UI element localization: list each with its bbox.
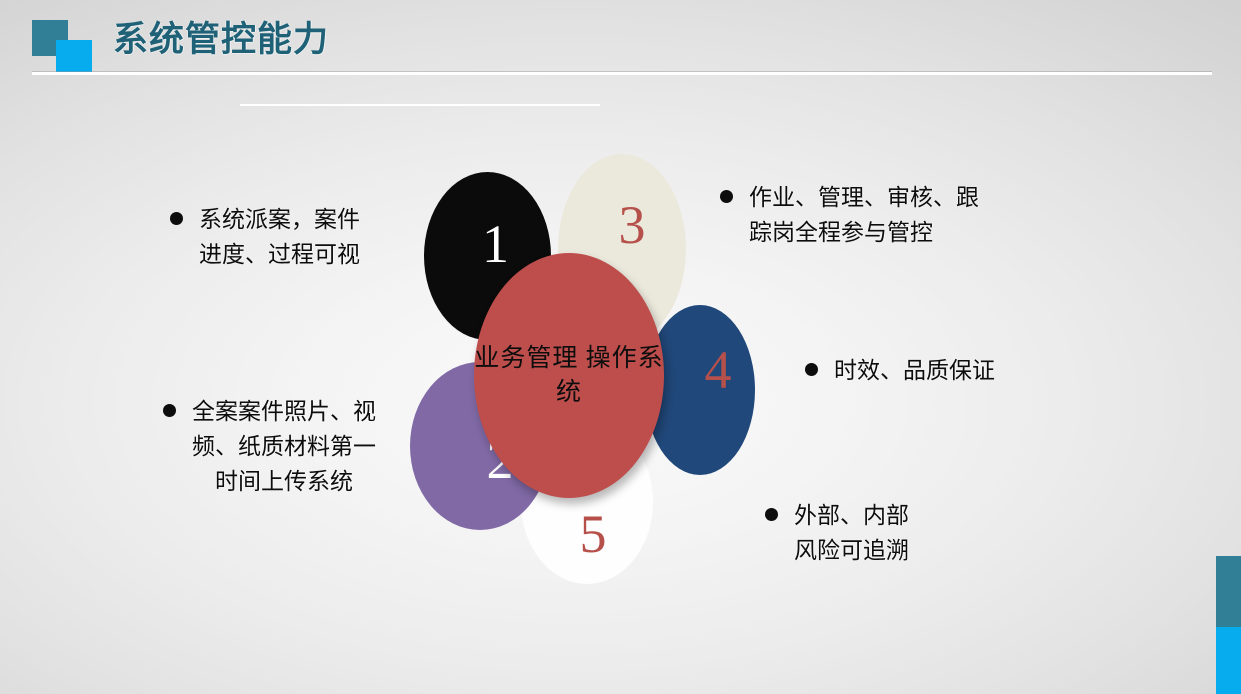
callout-1: 系统派案，案件 进度、过程可视 xyxy=(170,202,422,272)
callout-4-text: 时效、品质保证 xyxy=(834,353,995,388)
center-hub-ellipse[interactable]: 业务管理 操作系统 xyxy=(474,253,664,498)
edge-accent-blue xyxy=(1216,627,1241,694)
callout-2-text: 全案案件照片、视 频、纸质材料第一 时间上传系统 xyxy=(192,394,376,499)
page-title: 系统管控能力 xyxy=(113,22,329,57)
petal-number-3: 3 xyxy=(619,198,646,252)
header-divider-primary xyxy=(32,72,1212,75)
bullet-dot-icon xyxy=(170,212,183,225)
callout-3: 作业、管理、审核、跟 踪岗全程参与管控 xyxy=(720,180,1050,250)
callout-2: 全案案件照片、视 频、纸质材料第一 时间上传系统 xyxy=(163,394,431,499)
header-square-blue-icon xyxy=(56,40,92,75)
petal-number-5: 5 xyxy=(580,507,607,561)
bullet-dot-icon xyxy=(805,363,818,376)
petal-number-1: 1 xyxy=(482,217,509,271)
bullet-dot-icon xyxy=(163,404,176,417)
callout-5: 外部、内部 风险可追溯 xyxy=(765,498,1005,568)
callout-3-text: 作业、管理、审核、跟 踪岗全程参与管控 xyxy=(749,180,979,250)
petal-number-4: 4 xyxy=(705,343,732,397)
edge-accent-teal xyxy=(1216,556,1241,627)
slide-canvas: 系统管控能力 1 3 2 4 5 业务管理 操作系统 系统派案，案件 进度、过程… xyxy=(0,0,1241,694)
callout-1-text: 系统派案，案件 进度、过程可视 xyxy=(199,202,360,272)
callout-4: 时效、品质保证 xyxy=(805,353,1055,388)
bullet-dot-icon xyxy=(720,190,733,203)
bullet-dot-icon xyxy=(765,508,778,521)
header-divider-secondary xyxy=(240,104,600,106)
center-hub-label: 业务管理 操作系统 xyxy=(474,342,664,409)
callout-5-text: 外部、内部 风险可追溯 xyxy=(794,498,909,568)
